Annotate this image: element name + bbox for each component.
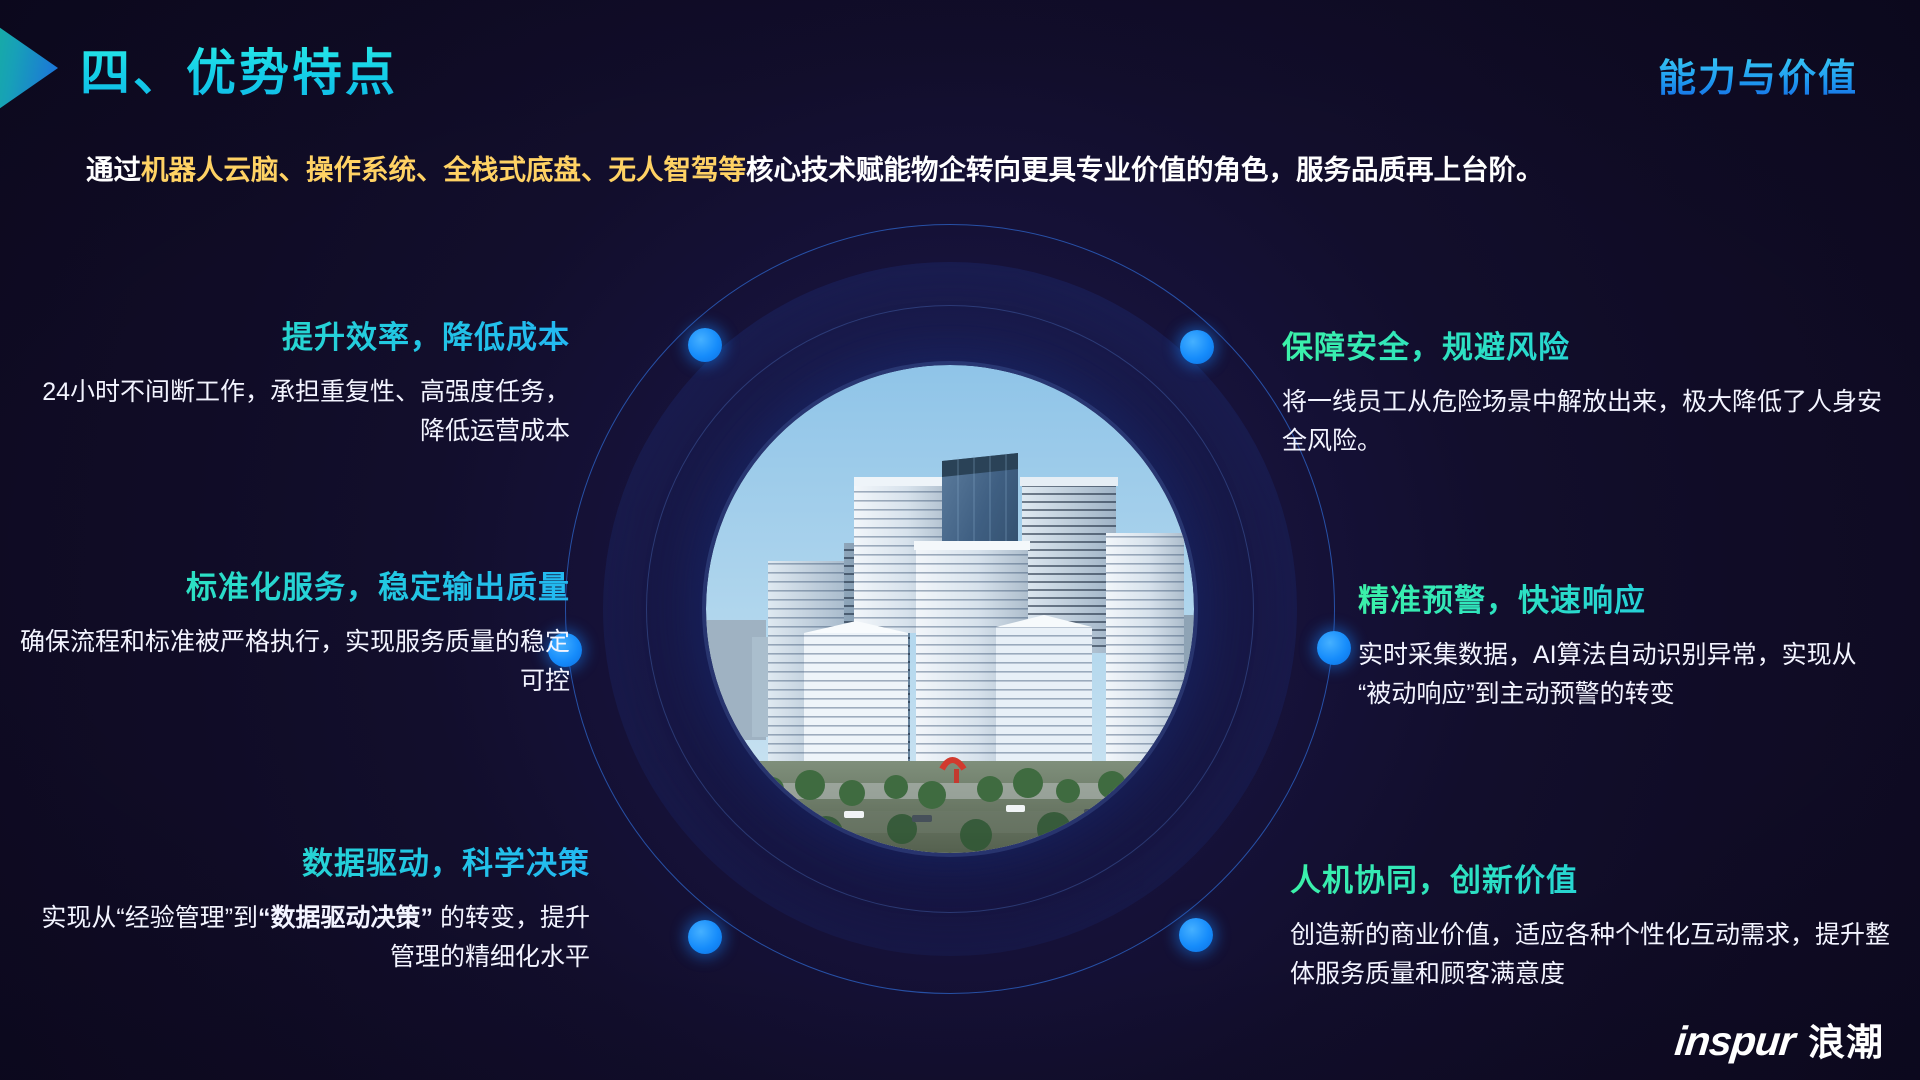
intro-segment-1-highlight: 机器人云脑、操作系统、全栈式底盘、无人智驾等 — [141, 154, 746, 185]
brand-logo-latin: inspur — [1672, 1018, 1796, 1065]
feature-left-2-title: 标准化服务，稳定输出质量 — [20, 562, 570, 607]
feature-right-3-body: 创造新的商业价值，适应各种个性化互动需求，提升整体服务质量和顾客满意度 — [1290, 916, 1890, 994]
node-bottom-right — [1179, 918, 1213, 952]
feature-right-1-body: 将一线员工从危险场景中解放出来，极大降低了人身安全风险。 — [1282, 383, 1882, 461]
intro-segment-2: 核心技术赋能物企转向更具专业价值的角色，服务品质再上台阶。 — [746, 154, 1544, 185]
slide-kicker: 能力与价值 — [1658, 47, 1858, 102]
node-top-left — [688, 328, 722, 362]
feature-right-2-title: 精准预警，快速响应 — [1358, 575, 1886, 620]
feature-right-2-body: 实时采集数据，AI算法自动识别异常，实现从“被动响应”到主动预警的转变 — [1358, 636, 1886, 714]
feature-left-2-body: 确保流程和标准被严格执行，实现服务质量的稳定可控 — [20, 623, 570, 701]
slide-root: 四、优势特点 能力与价值 通过机器人云脑、操作系统、全栈式底盘、无人智驾等核心技… — [0, 0, 1920, 1080]
page-title: 四、优势特点 — [80, 33, 398, 105]
feature-left-2: 标准化服务，稳定输出质量 确保流程和标准被严格执行，实现服务质量的稳定可控 — [20, 562, 570, 701]
brand-logo: inspur 浪潮 — [1675, 1012, 1884, 1066]
feature-right-2: 精准预警，快速响应 实时采集数据，AI算法自动识别异常，实现从“被动响应”到主动… — [1358, 575, 1886, 714]
feature-right-1: 保障安全，规避风险 将一线员工从危险场景中解放出来，极大降低了人身安全风险。 — [1282, 322, 1882, 461]
node-top-right — [1180, 330, 1214, 364]
feature-left-3-body: 实现从“经验管理”到“数据驱动决策” 的转变，提升管理的精细化水平 — [20, 899, 590, 977]
feature-right-3-title: 人机协同，创新价值 — [1290, 855, 1890, 900]
node-bottom-left — [688, 920, 722, 954]
node-mid-right — [1317, 631, 1351, 665]
feature-left-3-title: 数据驱动，科学决策 — [20, 838, 590, 883]
feature-right-3: 人机协同，创新价值 创造新的商业价值，适应各种个性化互动需求，提升整体服务质量和… — [1290, 855, 1890, 994]
brand-logo-cjk: 浪潮 — [1808, 1012, 1884, 1066]
feature-left-3: 数据驱动，科学决策 实现从“经验管理”到“数据驱动决策” 的转变，提升管理的精细… — [20, 838, 590, 977]
center-cityscape-image — [706, 365, 1194, 853]
feature-left-1-title: 提升效率，降低成本 — [40, 312, 570, 357]
feature-left-1-body: 24小时不间断工作，承担重复性、高强度任务，降低运营成本 — [40, 373, 570, 451]
intro-paragraph: 通过机器人云脑、操作系统、全栈式底盘、无人智驾等核心技术赋能物企转向更具专业价值… — [86, 142, 1854, 198]
intro-segment-0: 通过 — [86, 154, 141, 185]
feature-right-1-title: 保障安全，规避风险 — [1282, 322, 1882, 367]
feature-left-1: 提升效率，降低成本 24小时不间断工作，承担重复性、高强度任务，降低运营成本 — [40, 312, 570, 451]
